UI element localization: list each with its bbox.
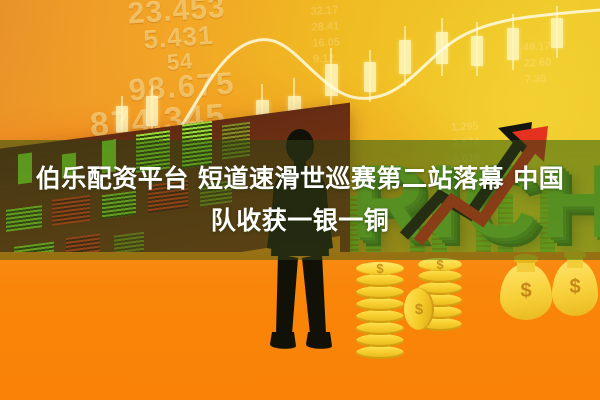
coin-dollar-sign: $ xyxy=(356,262,404,275)
tilted-coin: $ xyxy=(404,288,434,330)
coin-dollar-sign: $ xyxy=(404,288,434,330)
bag-dollar-sign: $ xyxy=(500,280,552,303)
headline-line-1: 伯乐配资平台 短道速滑世巡赛第二站落幕 中国 xyxy=(36,164,564,193)
headline-line-2: 队收获一银一铜 xyxy=(0,200,600,242)
news-thumbnail-image: 23.453 5.431 54 98.675 874.345 5.309 2.3… xyxy=(0,0,600,400)
coin-stack: $ xyxy=(356,262,404,362)
headline-text: 伯乐配资平台 短道速滑世巡赛第二站落幕 中国 队收获一银一铜 xyxy=(0,158,600,242)
bag-dollar-sign: $ xyxy=(552,276,598,299)
money-bag: $ xyxy=(500,252,552,324)
